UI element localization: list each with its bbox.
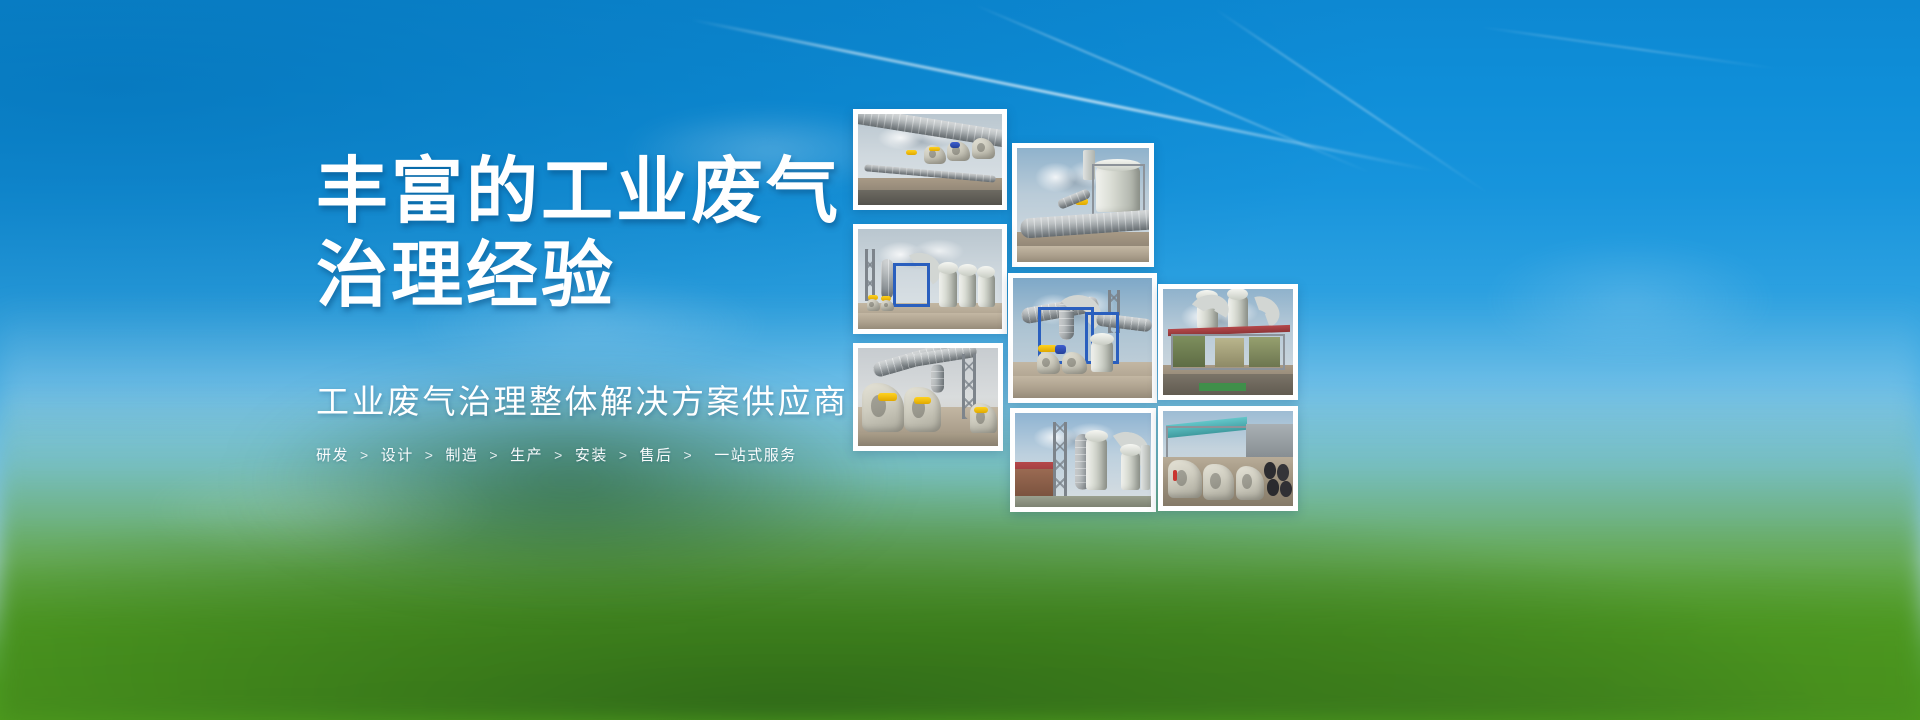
headline-line-2: 治理经验 [316, 234, 876, 318]
chevron-right-icon: > [489, 447, 499, 463]
process-step-7: 一站式服务 [714, 444, 797, 465]
photo-8-image [1163, 411, 1293, 506]
collage-photo-7 [1010, 408, 1156, 512]
process-step-6: 售后 [640, 444, 673, 465]
collage-photo-3 [853, 224, 1007, 334]
process-chain: 研发 > 设计 > 制造 > 生产 > 安装 > 售后 > 一站式服务 [316, 444, 876, 465]
photo-4-image [1013, 278, 1152, 398]
chevron-right-icon: > [554, 447, 564, 463]
chevron-right-icon: > [425, 447, 435, 463]
hero-text-block: 丰富的工业废气 治理经验 工业废气治理整体解决方案供应商 研发 > 设计 > 制… [316, 150, 876, 465]
headline-line-1: 丰富的工业废气 [316, 150, 876, 234]
process-step-3: 制造 [445, 444, 478, 465]
photo-3-image [858, 229, 1002, 329]
photo-7-image [1015, 413, 1151, 507]
chevron-right-icon: > [360, 447, 370, 463]
photo-5-image [1163, 289, 1293, 395]
process-step-2: 设计 [381, 444, 414, 465]
collage-photo-4 [1008, 273, 1157, 403]
chevron-right-icon: > [619, 447, 629, 463]
hero-banner: 丰富的工业废气 治理经验 工业废气治理整体解决方案供应商 研发 > 设计 > 制… [0, 0, 1920, 720]
collage-photo-5 [1158, 284, 1298, 400]
process-step-1: 研发 [316, 444, 349, 465]
photo-collage [0, 0, 1920, 720]
collage-photo-8 [1158, 406, 1298, 511]
collage-photo-1 [853, 109, 1007, 210]
subtitle: 工业废气治理整体解决方案供应商 [316, 380, 876, 424]
photo-2-image [1017, 148, 1149, 262]
chevron-right-icon: > [684, 447, 694, 463]
photo-1-image [858, 114, 1002, 205]
process-step-4: 生产 [510, 444, 543, 465]
collage-photo-2 [1012, 143, 1154, 267]
photo-6-image [858, 348, 998, 446]
process-step-5: 安装 [575, 444, 608, 465]
